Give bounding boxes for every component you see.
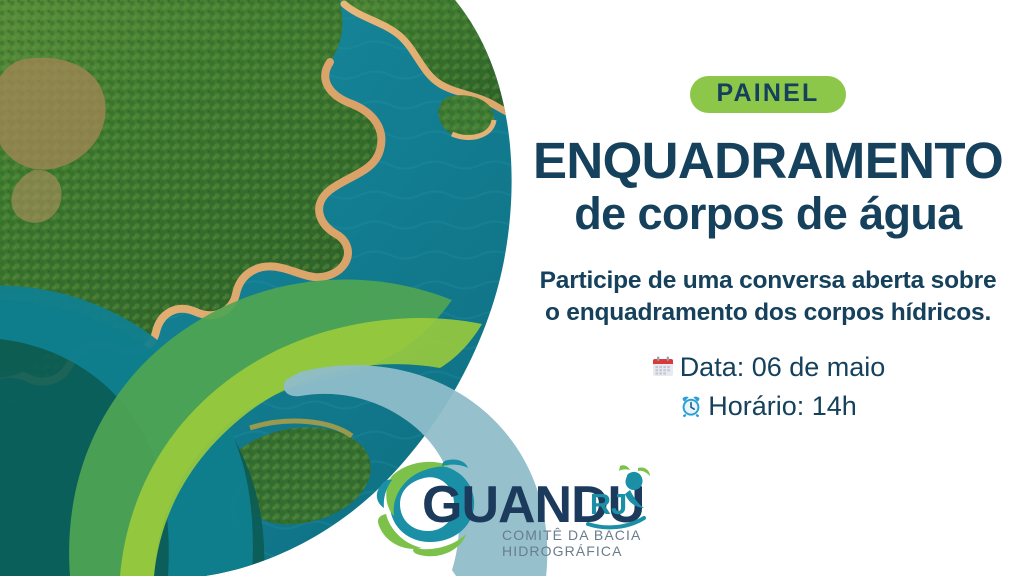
description-line-1: Participe de uma conversa aberta sobre	[540, 265, 997, 297]
guandu-logo: GUANDU RJ COMITÊ DA BACIA HIDROGRÁFICA	[362, 452, 662, 562]
logo-tagline-line-2: HIDROGRÁFICA	[502, 543, 623, 559]
page-subtitle: de corpos de água	[574, 190, 961, 238]
poster: PAINEL ENQUADRAMENTO de corpos de água P…	[0, 0, 1024, 576]
event-date-row: Data: 06 de maio	[651, 350, 886, 389]
logo-tagline-line-1: COMITÊ DA BACIA	[502, 527, 641, 543]
page-title: ENQUADRAMENTO	[533, 135, 1003, 186]
event-details: Data: 06 de maio Horário: 14h	[651, 350, 886, 427]
event-time-row: Horário: 14h	[651, 389, 886, 428]
description: Participe de uma conversa aberta sobre o…	[540, 265, 997, 329]
alarm-clock-icon	[679, 392, 703, 428]
event-date-text: Data: 06 de maio	[680, 352, 886, 382]
calendar-icon	[651, 353, 675, 389]
description-line-2: o enquadramento dos corpos hídricos.	[540, 297, 997, 329]
painel-badge: PAINEL	[690, 76, 845, 113]
logo-state: RJ	[590, 489, 627, 521]
event-time-text: Horário: 14h	[708, 391, 857, 421]
